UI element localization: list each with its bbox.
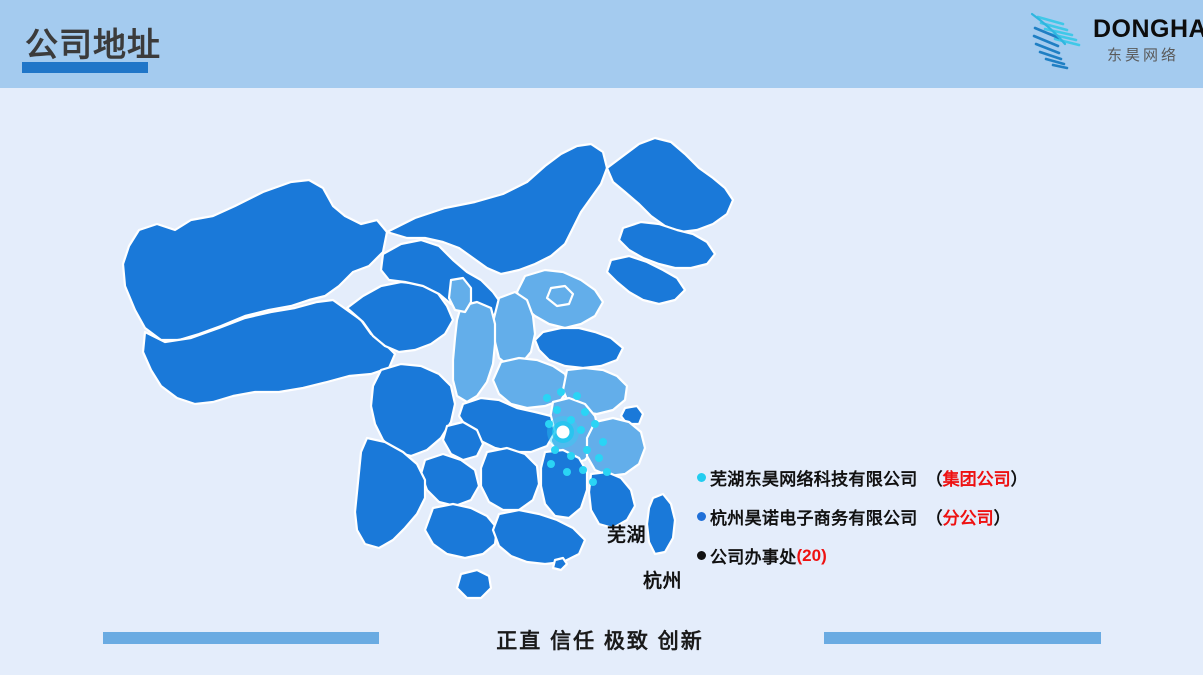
legend-paren-open-0: （: [926, 465, 943, 490]
province-hunan: [481, 448, 539, 510]
page-title: 公司地址: [25, 18, 161, 66]
province-taiwan: [647, 494, 675, 554]
legend-row-group-company: 芜湖东昊网络科技有限公司 （ 集团公司 ）: [697, 458, 1157, 497]
legend: 芜湖东昊网络科技有限公司 （ 集团公司 ） 杭州昊诺电子商务有限公司 （ 分公司…: [697, 458, 1157, 575]
legend-bullet-black-icon: [697, 551, 706, 560]
china-map[interactable]: 芜湖 杭州: [95, 120, 755, 620]
company-logo: DONGHAO 东昊网络: [1023, 6, 1193, 78]
province-guangxi: [425, 504, 497, 558]
province-ningxia: [449, 278, 471, 312]
footer-bar-right: [824, 632, 1101, 644]
province-hainan: [457, 570, 491, 598]
map-label-wuhu: 芜湖: [607, 520, 646, 547]
donghao-wing-mark-icon: [1029, 8, 1091, 74]
legend-label-group-company: 芜湖东昊网络科技有限公司: [710, 465, 918, 490]
legend-row-offices: 公司办事处 ( 20 ): [697, 536, 1157, 575]
footer-tagline: 正直 信任 极致 创新: [440, 625, 760, 655]
province-shaanxi: [453, 302, 495, 402]
province-heilongjiang: [607, 138, 733, 232]
legend-bullet-cyan-icon: [697, 473, 706, 482]
china-map-svg: [95, 120, 755, 620]
province-guangdong: [493, 510, 585, 564]
legend-tag-group-company: 集团公司: [943, 465, 1011, 490]
legend-paren-close-0: ）: [1011, 465, 1028, 490]
logo-subtext: 东昊网络: [1093, 44, 1193, 65]
legend-paren-close-1: ）: [994, 504, 1011, 529]
province-shanxi: [493, 292, 535, 366]
logo-wordmark: DONGHAO: [1093, 16, 1193, 42]
province-guizhou: [421, 454, 479, 506]
province-shandong: [535, 328, 623, 368]
region-hongkong: [553, 558, 567, 570]
legend-row-branch-company: 杭州昊诺电子商务有限公司 （ 分公司 ）: [697, 497, 1157, 536]
marker-wuhu[interactable]: [547, 416, 579, 448]
legend-paren-open-1: （: [926, 504, 943, 529]
footer-bar-left: [103, 632, 379, 644]
legend-paren-close-2: ): [821, 546, 827, 566]
legend-tag-offices-count: 20: [802, 546, 821, 566]
legend-tag-branch-company: 分公司: [943, 504, 994, 529]
province-jiangxi: [541, 450, 587, 518]
map-label-hangzhou: 杭州: [643, 566, 682, 593]
title-underline-accent: [22, 62, 148, 73]
legend-label-offices: 公司办事处: [710, 543, 797, 568]
legend-label-branch-company: 杭州昊诺电子商务有限公司: [710, 504, 918, 529]
legend-bullet-blue-icon: [697, 512, 706, 521]
